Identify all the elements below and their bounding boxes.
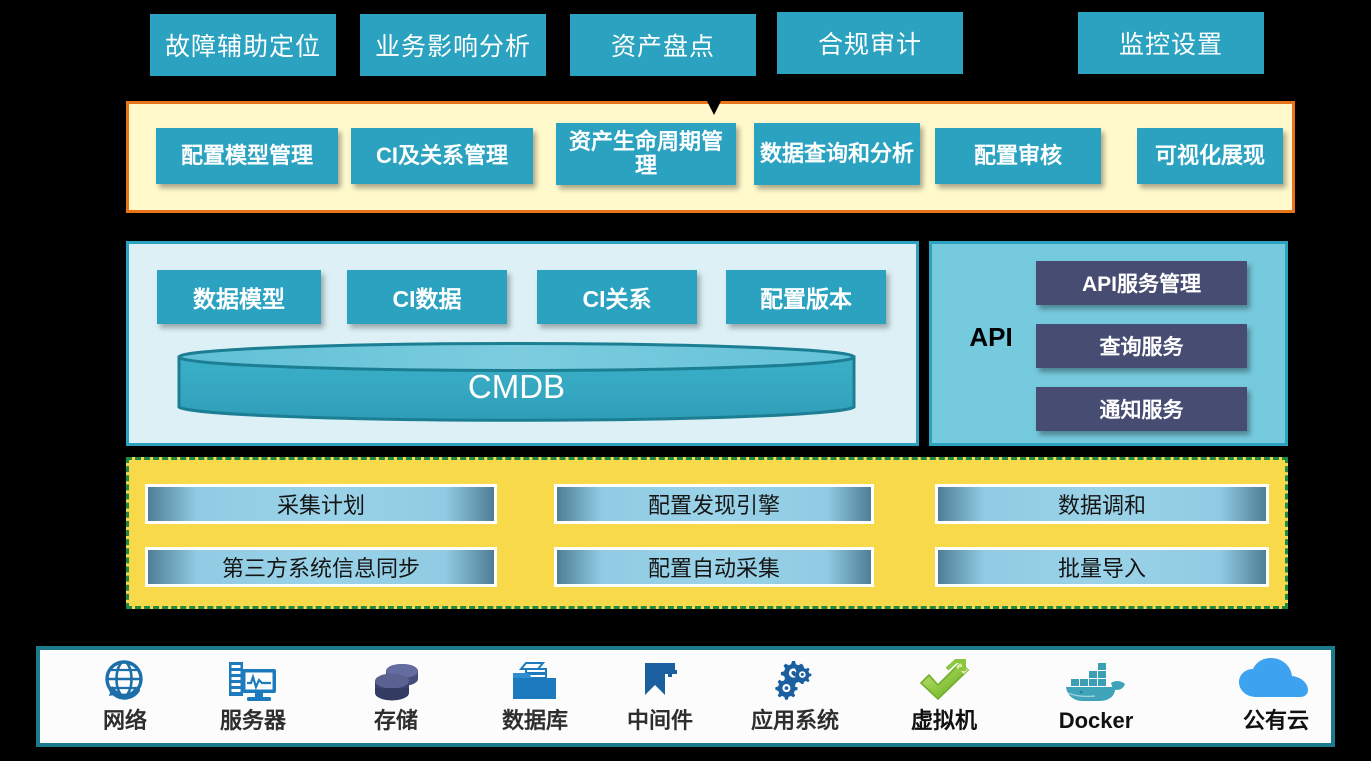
api-panel-label: API [956,322,1026,353]
scenario-button-business-impact[interactable]: 业务影响分析 [360,14,546,76]
gears-application-icon [768,656,822,708]
api-service-panel: API API服务管理 查询服务 通知服务 [929,241,1288,446]
infra-label-network: 网络 [103,710,147,732]
cmdb-chip-config-version[interactable]: 配置版本 [726,270,886,324]
function-button-visualization[interactable]: 可视化展现 [1137,128,1283,184]
infra-label-server: 服务器 [220,710,286,732]
database-folder-icon [508,656,562,708]
down-triangle-marker-icon [706,99,722,115]
infra-item-server[interactable]: 服务器 [194,656,312,742]
storage-disks-icon [369,656,423,708]
infra-item-storage[interactable]: 存储 [337,656,455,742]
infra-item-virtual-machine[interactable]: 虚拟机 [885,656,1003,742]
docker-whale-icon [1063,656,1129,708]
scenario-button-fault-location[interactable]: 故障辅助定位 [150,14,336,76]
collection-chip-collection-plan[interactable]: 采集计划 [145,484,497,524]
infra-label-storage: 存储 [374,710,418,732]
middleware-flag-icon [635,656,685,708]
infra-label-virtual-machine: 虚拟机 [911,710,977,732]
collection-chip-bulk-import[interactable]: 批量导入 [935,547,1269,587]
infra-item-database[interactable]: 数据库 [476,656,594,742]
collection-chip-third-party-sync[interactable]: 第三方系统信息同步 [145,547,497,587]
server-monitor-icon [226,656,280,708]
collection-chip-data-reconciliation[interactable]: 数据调和 [935,484,1269,524]
infra-label-docker: Docker [1059,710,1134,732]
scenario-row: 故障辅助定位 业务影响分析 资产盘点 合规审计 监控设置 [0,0,1371,90]
diagram-canvas: 故障辅助定位 业务影响分析 资产盘点 合规审计 监控设置 配置模型管理 CI及关… [0,0,1371,761]
function-button-asset-lifecycle-management[interactable]: 资产生命周期管理 [556,123,736,185]
infra-item-network[interactable]: 网络 [66,656,184,742]
function-button-ci-relationship-management[interactable]: CI及关系管理 [351,128,533,184]
infrastructure-strip: 网络 服务器 [36,646,1335,747]
collection-chip-discovery-engine[interactable]: 配置发现引擎 [554,484,874,524]
infra-label-middleware: 中间件 [627,710,693,732]
collection-chip-auto-collection[interactable]: 配置自动采集 [554,547,874,587]
scenario-button-monitoring-settings[interactable]: 监控设置 [1078,12,1264,74]
api-chip-service-management[interactable]: API服务管理 [1036,261,1247,305]
cmdb-cylinder-label: CMDB [176,341,857,423]
api-chip-query-service[interactable]: 查询服务 [1036,324,1247,368]
function-button-data-query-analysis[interactable]: 数据查询和分析 [754,123,920,185]
collection-band: 采集计划 配置发现引擎 数据调和 第三方系统信息同步 配置自动采集 批量导入 [126,457,1288,609]
database-cylinder-icon: CMDB [176,341,857,423]
scenario-button-compliance-audit[interactable]: 合规审计 [777,12,963,74]
cmdb-chip-ci-data[interactable]: CI数据 [347,270,507,324]
infra-item-public-cloud[interactable]: 公有云 [1217,656,1335,742]
function-button-config-model-management[interactable]: 配置模型管理 [156,128,338,184]
infra-label-database: 数据库 [502,710,568,732]
infra-label-public-cloud: 公有云 [1243,710,1309,732]
cmdb-chip-ci-relationship[interactable]: CI关系 [537,270,697,324]
public-cloud-icon [1236,656,1316,708]
infra-label-application: 应用系统 [751,710,839,732]
infra-item-middleware[interactable]: 中间件 [601,656,719,742]
function-band: 配置模型管理 CI及关系管理 资产生命周期管理 数据查询和分析 配置审核 可视化… [126,101,1295,213]
infra-item-application[interactable]: 应用系统 [736,656,854,742]
api-chip-notification-service[interactable]: 通知服务 [1036,387,1247,431]
scenario-button-asset-inventory[interactable]: 资产盘点 [570,14,756,76]
function-button-config-audit[interactable]: 配置审核 [935,128,1101,184]
infra-item-docker[interactable]: Docker [1037,656,1155,742]
cmdb-chip-data-model[interactable]: 数据模型 [157,270,321,324]
vm-checkmark-icon [915,656,973,708]
globe-network-icon [100,656,150,708]
